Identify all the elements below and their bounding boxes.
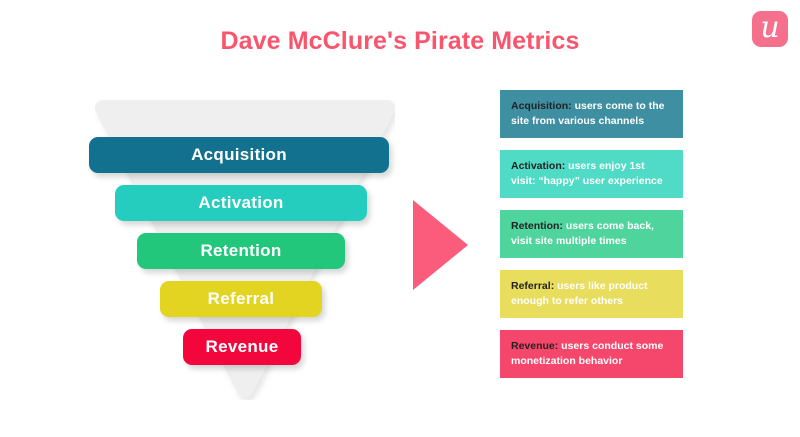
card-label: Revenue: (511, 340, 558, 352)
funnel-stage-retention[interactable]: Retention (137, 233, 345, 269)
page-title: Dave McClure's Pirate Metrics (0, 27, 800, 56)
funnel-stage-label: Retention (200, 241, 281, 261)
funnel-stage-bars: Acquisition Activation Retention Referra… (85, 95, 405, 410)
funnel-stage-acquisition[interactable]: Acquisition (89, 137, 389, 173)
definition-card-revenue: Revenue: users conduct some monetization… (500, 330, 683, 378)
definition-card-referral: Referral: users like product enough to r… (500, 270, 683, 318)
funnel-stage-revenue[interactable]: Revenue (183, 329, 301, 365)
card-label: Acquisition: (511, 100, 572, 112)
card-label: Activation: (511, 160, 565, 172)
funnel-stage-label: Acquisition (191, 145, 287, 165)
right-arrow-icon (413, 200, 468, 290)
funnel-stage-label: Activation (198, 193, 283, 213)
card-label: Referral: (511, 280, 554, 292)
funnel-stage-label: Referral (208, 289, 275, 309)
card-label: Retention: (511, 220, 563, 232)
funnel-stage-activation[interactable]: Activation (115, 185, 367, 221)
definition-card-retention: Retention: users come back, visit site m… (500, 210, 683, 258)
definition-card-activation: Activation: users enjoy 1st visit: “happ… (500, 150, 683, 198)
funnel-diagram: Acquisition Activation Retention Referra… (85, 95, 405, 410)
definition-card-list: Acquisition: users come to the site from… (500, 90, 683, 390)
definition-card-acquisition: Acquisition: users come to the site from… (500, 90, 683, 138)
funnel-stage-referral[interactable]: Referral (160, 281, 322, 317)
funnel-stage-label: Revenue (206, 337, 279, 357)
